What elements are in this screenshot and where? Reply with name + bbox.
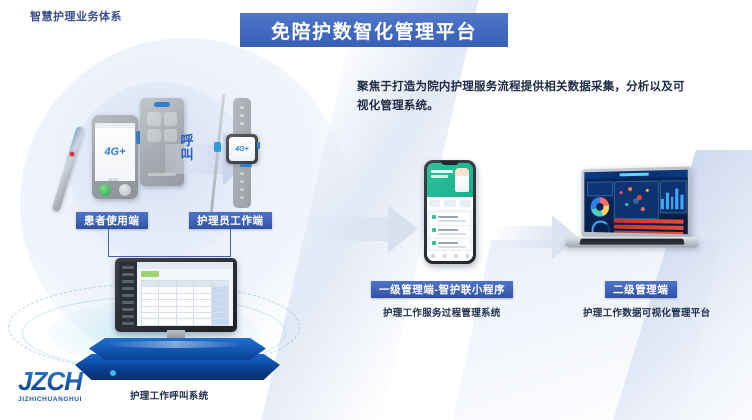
monitor-data-table [141,280,229,326]
watch-crown-icon [257,142,260,149]
watch-bottom-button-icon [240,164,252,167]
laptop-base [564,237,699,248]
phone-notch [441,161,459,165]
dashboard-alert-rows [614,219,684,234]
dashboard-donut-chart [591,197,609,217]
company-logo: JZCH JIZHICHUANGHUI [18,368,128,408]
app-list-item[interactable] [430,226,470,238]
logo-accent-dot-icon [110,370,116,376]
panel-top-button-icon [154,102,170,107]
node-pill-level2[interactable]: 二级管理端 [605,281,677,298]
app-hero-subtitle-line [431,175,448,178]
watch-screen: 4G+ [229,137,255,161]
handset-brand-mark: JZCH [108,177,118,182]
handset-end-button-icon [119,184,131,196]
connector-patient [108,229,109,257]
nav-home-icon[interactable] [431,254,435,258]
node-pill-nurse[interactable]: 护理员工作端 [189,212,272,229]
app-hero-banner [427,163,473,197]
laptop-keyboard [579,239,684,245]
slide-canvas: 智慧护理业务体系 免陪护数智化管理平台 聚焦于打造为院内护理服务流程提供相关数据… [0,0,752,420]
dashboard-bar-chart [661,184,684,209]
app-quick-tabs [427,197,473,210]
caption-call-system: 护理工作呼叫系统 [130,388,208,402]
dashboard-kpi-panel [587,181,613,196]
phone-screen [427,163,473,261]
nav-tasks-icon[interactable] [443,254,447,258]
node-pill-patient-label: 患者使用端 [84,213,140,228]
watch-case: 4G+ [226,134,258,164]
dashboard-scatter-map [614,183,657,218]
nav-profile-icon[interactable] [466,254,470,258]
level2-laptop-device [566,168,698,264]
dashboard-gauge-chart [592,220,611,234]
flow-arrow-shaft [494,226,556,248]
monitor-toolbar [137,262,233,269]
laptop-dashboard-screen [584,170,687,235]
app-tab-icon[interactable] [460,200,471,207]
node-pill-level1-label: 一级管理端-智护联小程序 [379,282,505,297]
connector-bridge [108,256,231,257]
app-tab-icon[interactable] [429,200,440,207]
watch-cord-clip-icon [214,142,221,152]
app-list-item[interactable] [430,213,470,225]
panel-key-icon [147,129,161,143]
node-pill-patient[interactable]: 患者使用端 [76,212,148,229]
call-arrow-label: 呼叫 [175,134,199,161]
dashboard-header [584,170,687,179]
flow-arrow-to-level1 [300,205,420,253]
logo-subtext: JIZHICHUANGHUI [18,396,128,403]
handset-network-label: 4G+ [104,146,125,158]
monitor-bezel [115,258,237,332]
panel-key-icon [164,112,178,126]
connector-nurse [230,229,231,257]
pedestal-highlight [105,341,245,348]
node-pill-nurse-label: 护理员工作端 [197,213,264,228]
nurse-call-monitor-device [115,258,237,336]
page-title-banner: 免陪护数智化管理平台 [240,13,508,47]
stylus-indicator-icon [69,151,75,157]
flow-arrow-head-icon [388,205,418,253]
laptop-lid [582,166,691,239]
node-pill-level2-label: 二级管理端 [613,282,669,297]
monitor-sidebar [119,262,137,326]
watch-network-label: 4G+ [235,146,248,153]
handset-statusbar [95,123,135,128]
nurse-illustration-icon [455,168,469,192]
app-bottom-nav [427,250,473,261]
app-tab-icon[interactable] [444,200,455,207]
level1-smartphone-device [424,160,476,264]
caption-level1: 护理工作服务过程管理系统 [383,305,501,319]
monitor-active-tab [141,271,159,277]
page-title: 免陪护数智化管理平台 [271,17,477,44]
app-hero-title-line [431,170,453,173]
patient-handset-device: 4G+ JZCH [92,115,138,199]
nurse-smartwatch-device: 4G+ [220,98,264,208]
intro-description: 聚焦于打造为院内护理服务流程提供相关数据采集，分析以及可视化管理系统。 [357,78,687,116]
caption-level2: 护理工作数据可视化管理平台 [583,305,710,319]
flow-arrow-shaft [300,217,392,241]
nav-stats-icon[interactable] [454,254,458,258]
monitor-screen [119,262,233,326]
handset-call-button-icon [99,184,111,196]
panel-key-icon [147,112,161,126]
node-pill-level1[interactable]: 一级管理端-智护联小程序 [371,281,513,298]
handset-screen: 4G+ [95,123,135,181]
page-kicker: 智慧护理业务体系 [30,8,122,24]
